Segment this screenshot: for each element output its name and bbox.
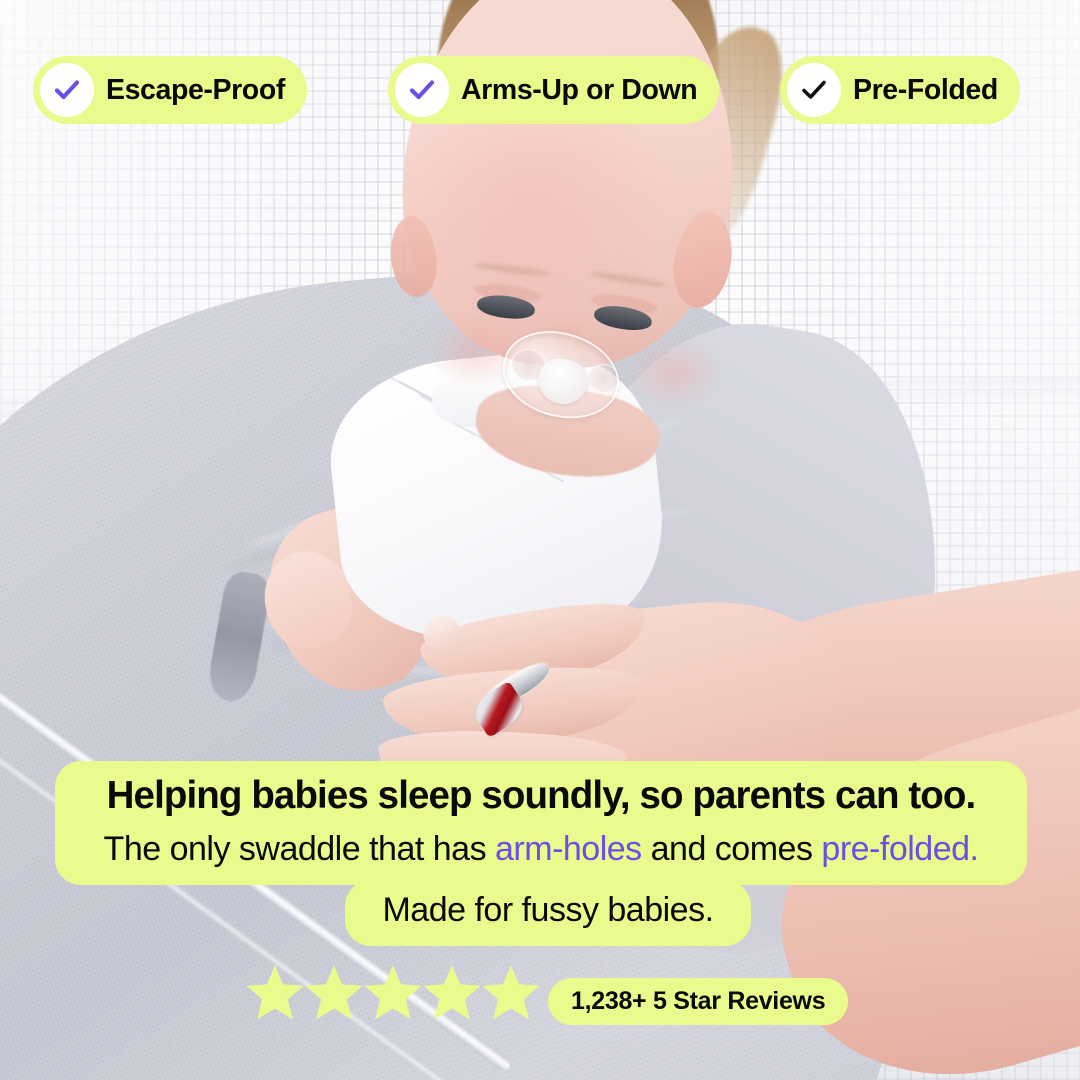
feature-badge-label: Escape-Proof [106,76,285,105]
feature-badge-pre-folded[interactable]: Pre-Folded [780,56,1020,124]
feature-badge-label: Arms-Up or Down [461,76,697,105]
tagline: Made for fussy babies. [363,888,733,932]
star-rating [243,962,538,1024]
subheadline-highlight-pre-folded: pre-folded. [821,830,978,868]
reviews-badge[interactable]: 1,238+ 5 Star Reviews [548,978,848,1025]
check-icon [40,63,94,117]
star-icon [479,962,543,1024]
star-icon [420,962,484,1024]
reviews-count-label: 1,238+ 5 Star Reviews [571,989,825,1014]
tagline-block: Made for fussy babies. [345,880,751,946]
feature-badge-label: Pre-Folded [853,76,998,105]
rating-row: 1,238+ 5 Star Reviews [0,962,1080,1038]
subheadline: The only swaddle that has arm-holes and … [69,827,1013,871]
page-title: Helping babies sleep soundly, so parents… [69,772,1013,821]
subheadline-highlight-arm-holes: arm-holes [495,830,642,868]
star-icon [302,962,366,1024]
subheadline-part2: and comes [642,830,822,868]
baby-cheek [626,335,723,411]
star-icon [361,962,425,1024]
headline-block: Helping babies sleep soundly, so parents… [55,761,1027,885]
check-icon [395,63,449,117]
subheadline-part1: The only swaddle that has [104,830,495,868]
feature-badge-arms-up-or-down[interactable]: Arms-Up or Down [388,56,719,124]
feature-badge-row: Escape-Proof Arms-Up or Down Pre-Folded [0,56,1080,126]
product-ad-creative: Escape-Proof Arms-Up or Down Pre-Folded … [0,0,1080,1080]
star-icon [243,962,307,1024]
feature-badge-escape-proof[interactable]: Escape-Proof [33,56,307,124]
check-icon [787,63,841,117]
